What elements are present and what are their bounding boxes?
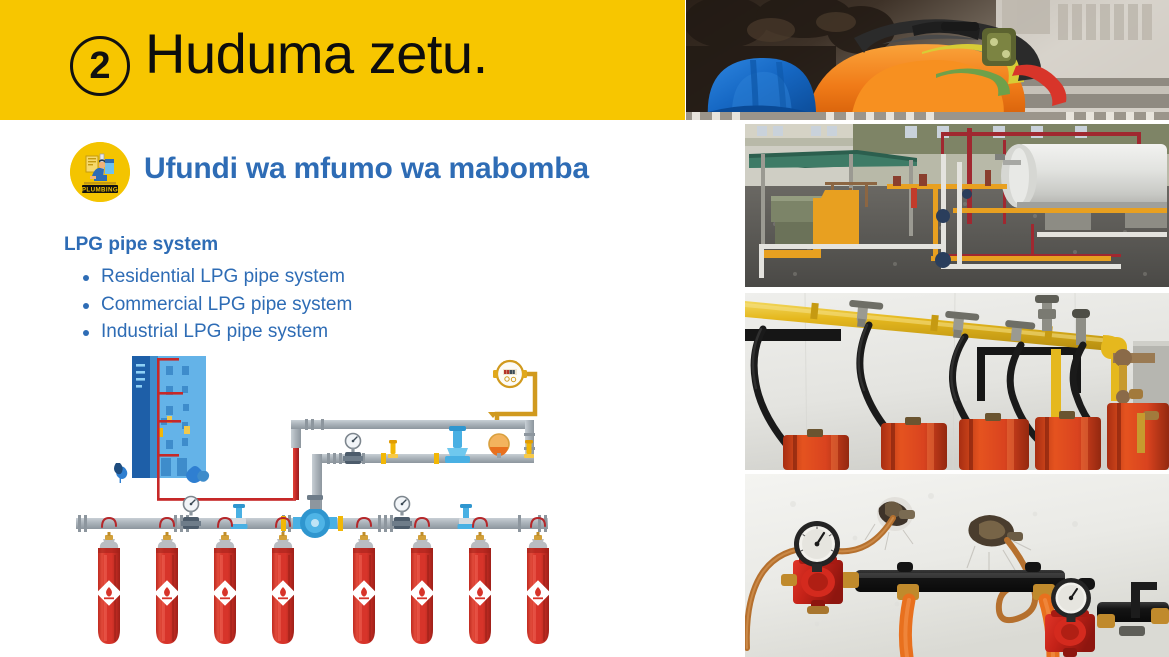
manifold-shutoff-right <box>392 517 412 529</box>
building-graphic <box>132 356 206 478</box>
lpg-cylinder <box>351 532 376 644</box>
lpg-cylinder <box>409 532 434 644</box>
plumbing-logo-icon: PLUMBING <box>70 142 130 202</box>
photo-safety-gear <box>686 0 1169 120</box>
gas-meter <box>488 361 535 420</box>
manifold-gauge-right <box>395 497 410 516</box>
lpg-pipe-system-diagram <box>62 352 562 644</box>
photo-lpg-regulators <box>745 474 1169 657</box>
lpg-cylinder <box>270 532 295 644</box>
section-number-badge: 2 <box>70 36 130 96</box>
photo-lpg-tank-facility <box>745 124 1169 287</box>
manifold-blue-valve-left <box>231 504 248 529</box>
lpg-cylinder-bank-right <box>351 532 550 644</box>
photo-lpg-manifold-hoses <box>745 293 1169 470</box>
branch-pressure-gauge <box>346 434 361 453</box>
lpg-cylinder-bank-left <box>96 532 295 644</box>
branch-yellow-valve-1 <box>388 440 398 458</box>
svg-text:PLUMBING: PLUMBING <box>82 186 118 193</box>
manifold-blue-valve-right <box>458 504 475 529</box>
manifold-gauge-left <box>184 497 199 516</box>
list-item: Commercial LPG pipe system <box>70 291 352 319</box>
section-heading: Ufundi wa mfumo wa mabomba <box>144 152 589 186</box>
list-item: Industrial LPG pipe system <box>70 318 352 346</box>
manifold-shutoff-left <box>181 517 201 529</box>
lpg-cylinder <box>96 532 121 644</box>
list-title: LPG pipe system <box>64 234 218 256</box>
header-band: 2 Huduma zetu. <box>0 0 685 120</box>
lpg-cylinder <box>154 532 179 644</box>
lpg-cylinder <box>525 532 550 644</box>
lpg-cylinder <box>467 532 492 644</box>
lpg-cylinder <box>212 532 237 644</box>
bullet-list: Residential LPG pipe system Commercial L… <box>70 263 352 346</box>
branch-shutoff-valve <box>343 452 363 464</box>
branch-blue-valve <box>445 426 470 463</box>
manifold-header <box>76 495 548 538</box>
slide-root: 2 Huduma zetu. PLUMBING Ufundi wa mfumo … <box>0 0 1169 657</box>
manifold-ball-valve <box>293 495 337 538</box>
list-item: Residential LPG pipe system <box>70 263 352 291</box>
page-title: Huduma zetu. <box>145 21 488 86</box>
